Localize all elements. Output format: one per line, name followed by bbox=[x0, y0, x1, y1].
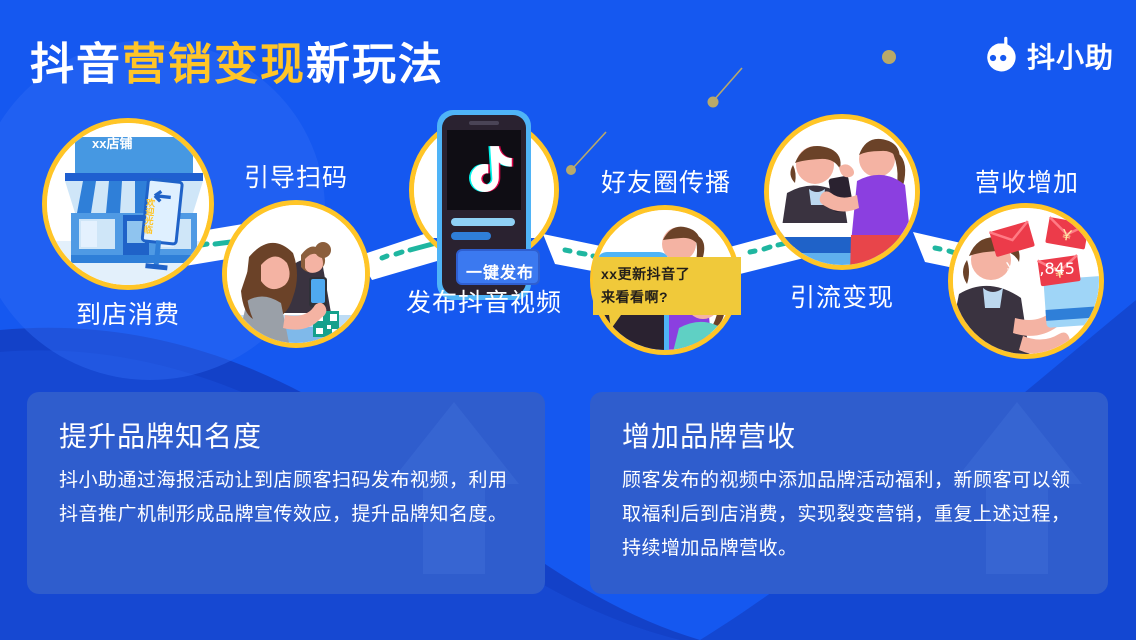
node-3-publish-button-text[interactable]: 一键发布 bbox=[466, 259, 534, 283]
node-1-label: 到店消费 bbox=[28, 295, 228, 331]
node-6-label: 营收增加 bbox=[936, 163, 1118, 199]
node-6-amount: ￥99,845 bbox=[1003, 255, 1075, 279]
title-highlight: 营销变现 bbox=[122, 40, 306, 89]
title-part-2: 新玩法 bbox=[306, 40, 444, 89]
node-4-label: 好友圈传播 bbox=[578, 163, 754, 199]
card-brand-revenue-body: 顾客发布的视频中添加品牌活动福利，新顾客可以领取福利后到店消费，实现裂变营销，重… bbox=[622, 464, 1084, 566]
node-5-illustration bbox=[764, 114, 920, 270]
card-brand-awareness-body: 抖小助通过海报活动让到店顾客扫码发布视频，利用抖音推广机制形成品牌宣传效应，提升… bbox=[59, 464, 521, 532]
node-4-bubble-line-2: 来看看啊? bbox=[601, 287, 668, 307]
page-title: 抖音营销变现新玩法 bbox=[30, 28, 444, 92]
node-4-bubble-line-1: xx更新抖音了 bbox=[601, 264, 690, 284]
node-1-sign-text: xx店铺 bbox=[92, 133, 132, 152]
counter-scene-icon bbox=[769, 119, 920, 270]
qr-scan-people-icon bbox=[227, 205, 370, 348]
summary-cards: 提升品牌知名度 抖小助通过海报活动让到店顾客扫码发布视频，利用抖音推广机制形成品… bbox=[0, 392, 1136, 602]
node-2-label: 引导扫码 bbox=[216, 158, 376, 194]
robot-face-icon bbox=[978, 36, 1018, 76]
revenue-icon: ￥ ￥ bbox=[953, 208, 1104, 359]
card-brand-awareness-title: 提升品牌知名度 bbox=[59, 415, 262, 455]
node-2-illustration bbox=[222, 200, 370, 348]
node-5-label: 引流变现 bbox=[760, 278, 924, 314]
header: 抖音营销变现新玩法 抖小助 bbox=[0, 0, 1136, 110]
logo-text: 抖小助 bbox=[1027, 36, 1114, 76]
node-3-label: 发布抖音视频 bbox=[388, 283, 580, 319]
brand-logo[interactable]: 抖小助 bbox=[978, 36, 1114, 76]
svg-text:￥: ￥ bbox=[1058, 225, 1076, 245]
card-brand-revenue[interactable]: 增加品牌营收 顾客发布的视频中添加品牌活动福利，新顾客可以领取福利后到店消费，实… bbox=[590, 392, 1108, 594]
card-brand-revenue-title: 增加品牌营收 bbox=[622, 415, 796, 455]
flow-diagram: xx店铺 欢迎光临 到店消费 bbox=[0, 100, 1136, 380]
card-brand-awareness[interactable]: 提升品牌知名度 抖小助通过海报活动让到店顾客扫码发布视频，利用抖音推广机制形成品… bbox=[27, 392, 545, 594]
node-6-illustration: ￥ ￥ bbox=[948, 203, 1104, 359]
title-part-1: 抖音 bbox=[30, 40, 122, 89]
